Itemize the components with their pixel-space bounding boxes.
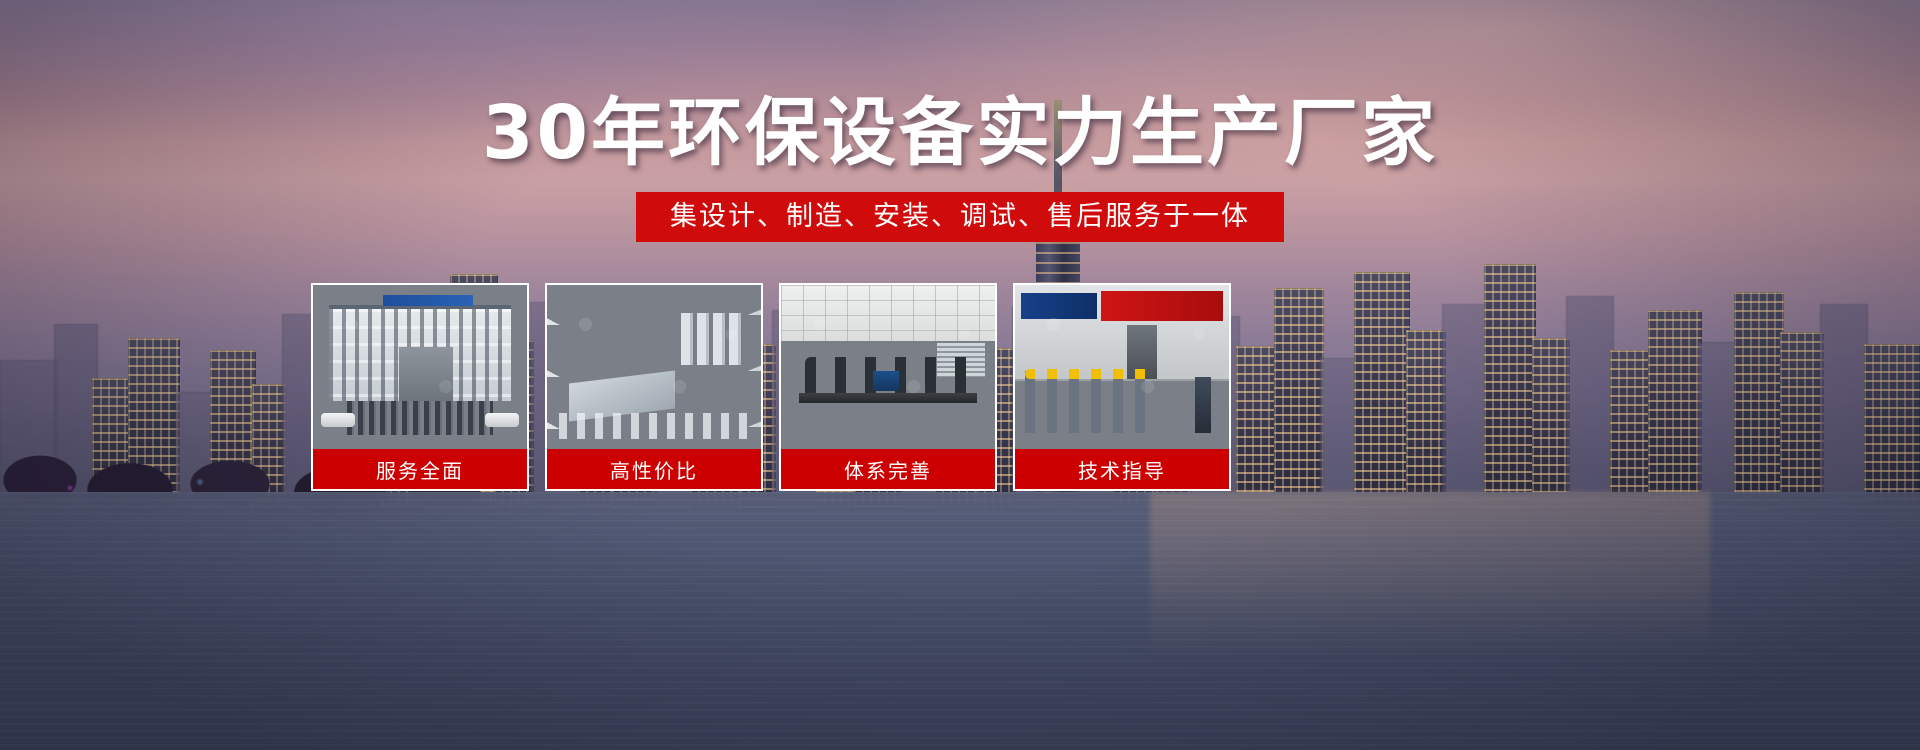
feature-card-list: 服务全面 高性价比 体系完善 技术指导 — [311, 283, 1231, 491]
feature-card[interactable]: 技术指导 — [1013, 283, 1231, 491]
water-reflection — [1150, 492, 1710, 750]
card-caption: 体系完善 — [779, 449, 997, 491]
hero-banner: 30年环保设备实力生产厂家 集设计、制造、安装、调试、售后服务于一体 服务全面 … — [0, 0, 1920, 750]
card-caption: 技术指导 — [1013, 449, 1231, 491]
tagline-container: 集设计、制造、安装、调试、售后服务于一体 — [0, 192, 1920, 242]
feature-card[interactable]: 高性价比 — [545, 283, 763, 491]
card-photo-office-building — [311, 283, 529, 449]
card-caption: 服务全面 — [311, 449, 529, 491]
card-caption: 高性价比 — [545, 449, 763, 491]
feature-card[interactable]: 服务全面 — [311, 283, 529, 491]
card-photo-aerial-plant — [545, 283, 763, 449]
card-photo-office-interior — [779, 283, 997, 449]
page-title: 30年环保设备实力生产厂家 — [0, 96, 1920, 170]
card-photo-factory-workers — [1013, 283, 1231, 449]
tagline-badge: 集设计、制造、安装、调试、售后服务于一体 — [636, 192, 1284, 242]
feature-card[interactable]: 体系完善 — [779, 283, 997, 491]
